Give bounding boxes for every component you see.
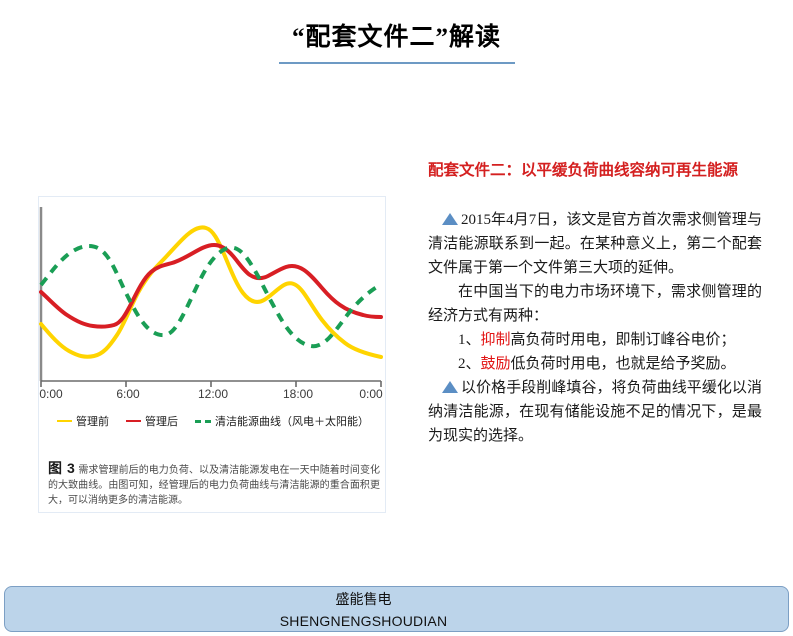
paragraph-measure-2: 2、鼓励低负荷时用电，也就是给予奖励。 <box>428 352 762 376</box>
x-axis-tick-labels: 0:00 6:00 12:00 18:00 0:00 <box>39 387 387 405</box>
legend-label-clean-energy: 清洁能源曲线（风电＋太阳能） <box>215 413 369 429</box>
legend-swatch-green-dashed-line-icon <box>195 420 211 423</box>
legend-label-before: 管理前 <box>76 413 109 429</box>
x-tick-label-2: 12:00 <box>198 387 228 401</box>
paragraph-market: 在中国当下的电力市场环境下，需求侧管理的经济方式有两种： <box>428 280 762 328</box>
legend-item-before: 管理前 <box>57 413 109 429</box>
page-title: “配套文件二”解读 <box>0 22 793 54</box>
legend-item-clean-energy: 清洁能源曲线（风电＋太阳能） <box>195 413 369 429</box>
footer-company-name-cn: 盛能售电 <box>5 591 722 611</box>
measure-1-highlight: 抑制 <box>481 332 511 348</box>
footer-bar: 盛能售电 SHENGNENGSHOUDIAN <box>4 586 789 632</box>
paragraph-conclusion: 以价格手段削峰填谷，将负荷曲线平缓化以消纳清洁能源，在现有储能设施不足的情况下，… <box>428 376 762 448</box>
slide-header: “配套文件二”解读 <box>0 22 793 64</box>
measure-2-prefix: 2、 <box>458 356 481 372</box>
section-heading: 配套文件二：以平缓负荷曲线容纳可再生能源 <box>428 160 762 182</box>
legend-swatch-yellow-line-icon <box>57 420 72 422</box>
chart-card: 0:00 6:00 12:00 18:00 0:00 管理前 管理后 清洁能源曲… <box>38 196 386 513</box>
paragraph-measure-1: 1、抑制高负荷时用电，即制订峰谷电价； <box>428 328 762 352</box>
chart-legend: 管理前 管理后 清洁能源曲线（风电＋太阳能） <box>39 411 387 431</box>
triangle-bullet-icon <box>442 213 458 225</box>
measure-2-rest: 低负荷时用电，也就是给予奖励。 <box>511 356 736 372</box>
x-tick-label-3: 18:00 <box>283 387 313 401</box>
triangle-bullet-icon-2 <box>442 381 458 393</box>
title-underline-rule <box>279 62 515 64</box>
legend-item-after: 管理后 <box>126 413 178 429</box>
legend-swatch-red-line-icon <box>126 420 141 422</box>
footer-company-name-en: SHENGNENGSHOUDIAN <box>5 611 722 631</box>
content-text-column: 配套文件二：以平缓负荷曲线容纳可再生能源 2015年4月7日，该文是官方首次需求… <box>428 160 762 448</box>
x-tick-label-4: 0:00 <box>359 387 382 401</box>
chart-caption: 图 3需求管理前后的电力负荷、以及清洁能源发电在一天中随着时间变化的大致曲线。由… <box>48 461 380 508</box>
paragraph-intro-text: 2015年4月7日，该文是官方首次需求侧管理与清洁能源联系到一起。在某种意义上，… <box>428 212 762 276</box>
x-tick-label-1: 6:00 <box>116 387 139 401</box>
series-line-after <box>41 245 381 327</box>
load-curve-chart <box>39 199 387 389</box>
chart-svg <box>39 199 387 389</box>
paragraph-conclusion-text: 以价格手段削峰填谷，将负荷曲线平缓化以消纳清洁能源，在现有储能设施不足的情况下，… <box>428 380 762 444</box>
paragraph-intro: 2015年4月7日，该文是官方首次需求侧管理与清洁能源联系到一起。在某种意义上，… <box>428 208 762 280</box>
chart-caption-tag: 图 3 <box>48 460 75 476</box>
chart-caption-text: 需求管理前后的电力负荷、以及清洁能源发电在一天中随着时间变化的大致曲线。由图可知… <box>48 465 380 506</box>
legend-label-after: 管理后 <box>145 413 178 429</box>
measure-1-rest: 高负荷时用电，即制订峰谷电价； <box>511 332 736 348</box>
x-tick-label-0: 0:00 <box>39 387 62 401</box>
measure-2-highlight: 鼓励 <box>481 356 511 372</box>
footer-branding: 盛能售电 SHENGNENGSHOUDIAN <box>5 591 790 631</box>
measure-1-prefix: 1、 <box>458 332 481 348</box>
